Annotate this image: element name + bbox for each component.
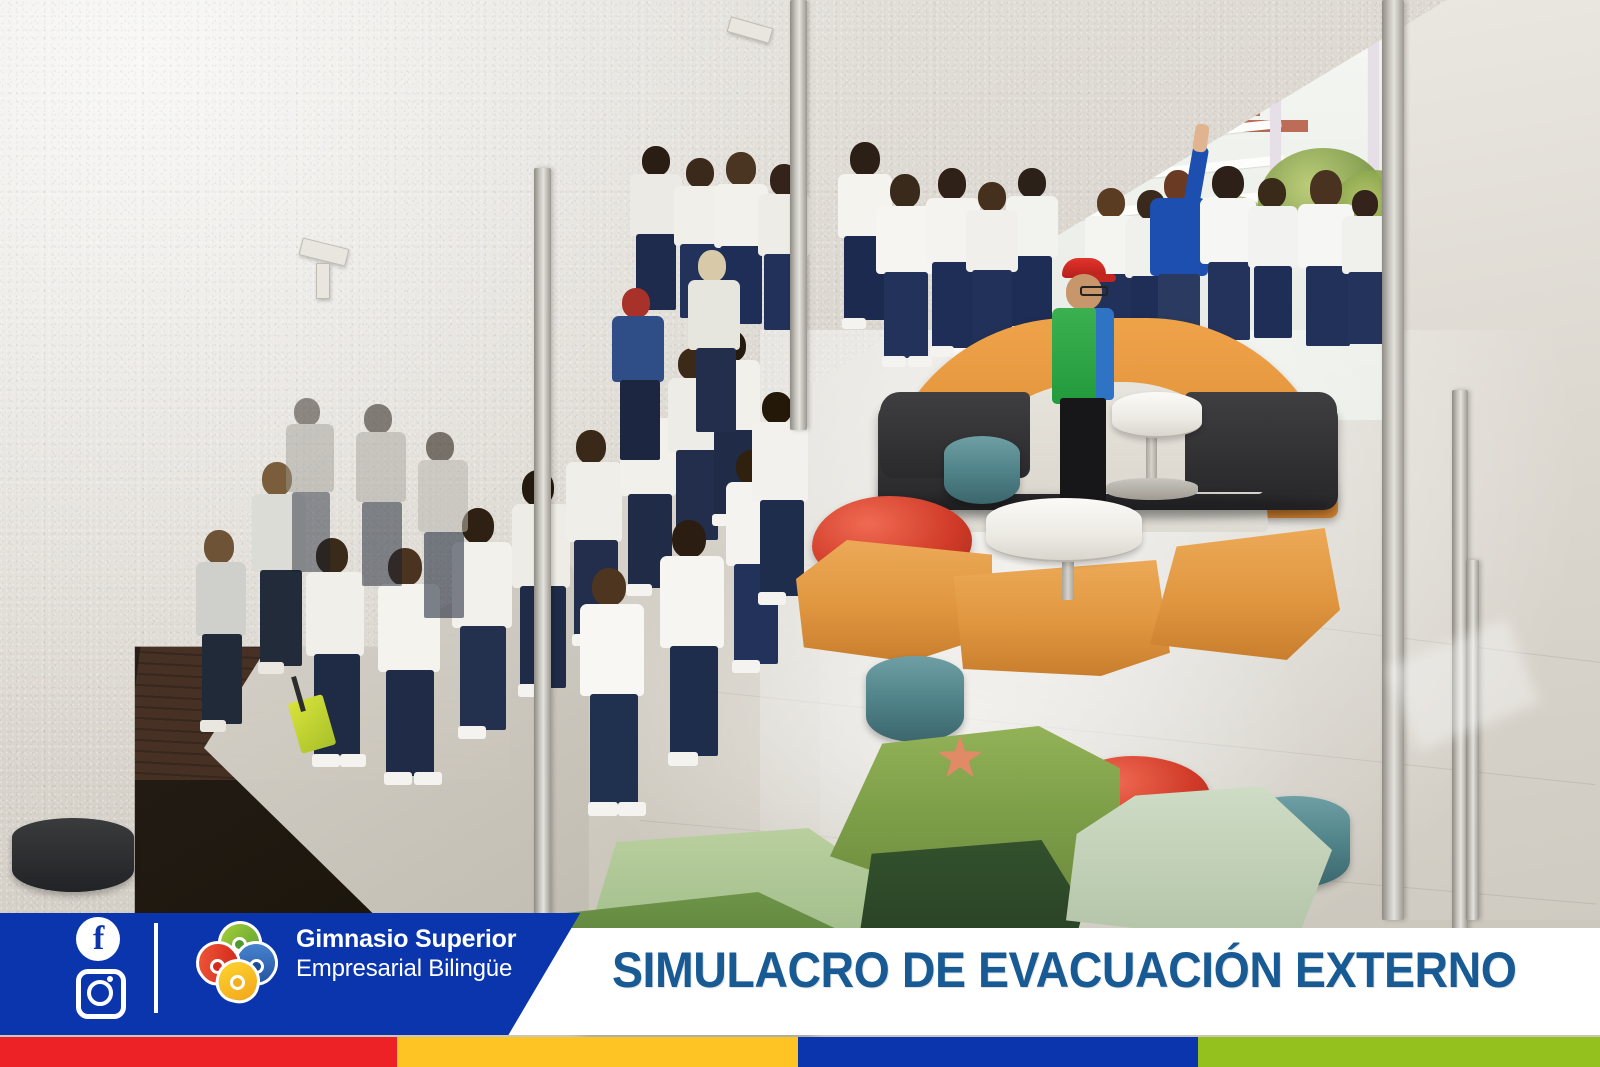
table-foot	[1106, 478, 1198, 500]
green-ottoman-edge	[578, 960, 818, 1030]
wall-bracket	[316, 263, 330, 299]
teal-ottoman-front	[866, 656, 964, 742]
orange-ottoman-center	[940, 560, 1170, 676]
eyeglasses	[1080, 286, 1108, 296]
legs	[1060, 398, 1106, 510]
handrail	[1466, 560, 1479, 920]
poster-frame: f Gimnasio Superior Empresarial Bilingüe	[0, 0, 1600, 1067]
sofa-seat-right	[1185, 392, 1337, 492]
dark-pouf	[12, 818, 134, 892]
round-table-back	[1112, 392, 1202, 438]
structural-column	[534, 168, 551, 936]
teal-ottoman-back	[944, 436, 1020, 504]
structural-column	[790, 0, 807, 430]
round-table-front	[986, 498, 1142, 562]
green-ottoman-dark	[848, 840, 1084, 1012]
structural-column	[1382, 0, 1404, 920]
green-safety-vest	[1052, 308, 1096, 404]
event-photograph	[0, 0, 1600, 1067]
